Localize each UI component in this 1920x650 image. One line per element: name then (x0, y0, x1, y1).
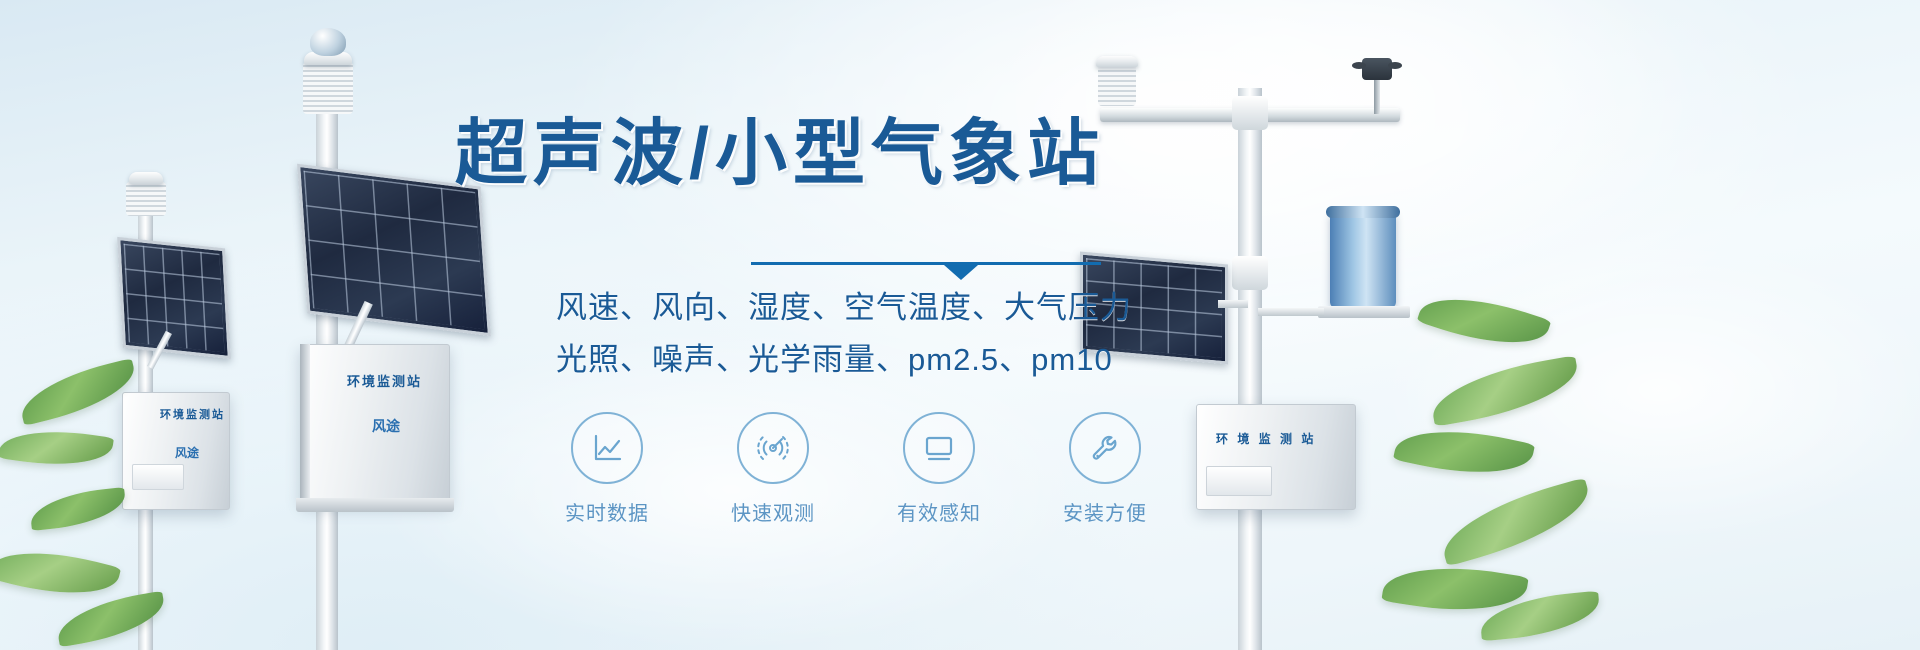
divider-line (751, 262, 1101, 265)
banner-text-content: 超声波/小型气象站 风速、风向、湿度、空气温度、大气压力 光照、噪声、光学雨量、… (0, 0, 1920, 650)
monitor-screen-icon (903, 412, 975, 484)
feature-label: 实时数据 (565, 497, 649, 526)
feature-item-effective-sensing[interactable]: 有效感知 (880, 412, 998, 526)
feature-item-easy-install[interactable]: 安装方便 (1046, 412, 1164, 526)
title-divider (751, 258, 1101, 278)
radar-observe-icon (737, 412, 809, 484)
divider-triangle-icon (944, 265, 978, 280)
feature-label: 有效感知 (897, 497, 981, 526)
subtitle-line-2: 光照、噪声、光学雨量、pm2.5、pm10 (556, 334, 1113, 379)
feature-item-fast-observation[interactable]: 快速观测 (714, 412, 832, 526)
line-chart-icon (571, 412, 643, 484)
page-title: 超声波/小型气象站 (455, 118, 1105, 190)
product-banner: 环境监测站 风途 环境监测站 风途 环 境 监 测 站 超 (0, 0, 1920, 650)
feature-label: 安装方便 (1063, 497, 1147, 526)
subtitle-line-1: 风速、风向、湿度、空气温度、大气压力 (556, 282, 1132, 327)
feature-label: 快速观测 (731, 497, 815, 526)
wrench-setting-icon (1069, 412, 1141, 484)
feature-item-realtime-data[interactable]: 实时数据 (548, 412, 666, 526)
feature-list: 实时数据 快速观测 (548, 412, 1164, 526)
